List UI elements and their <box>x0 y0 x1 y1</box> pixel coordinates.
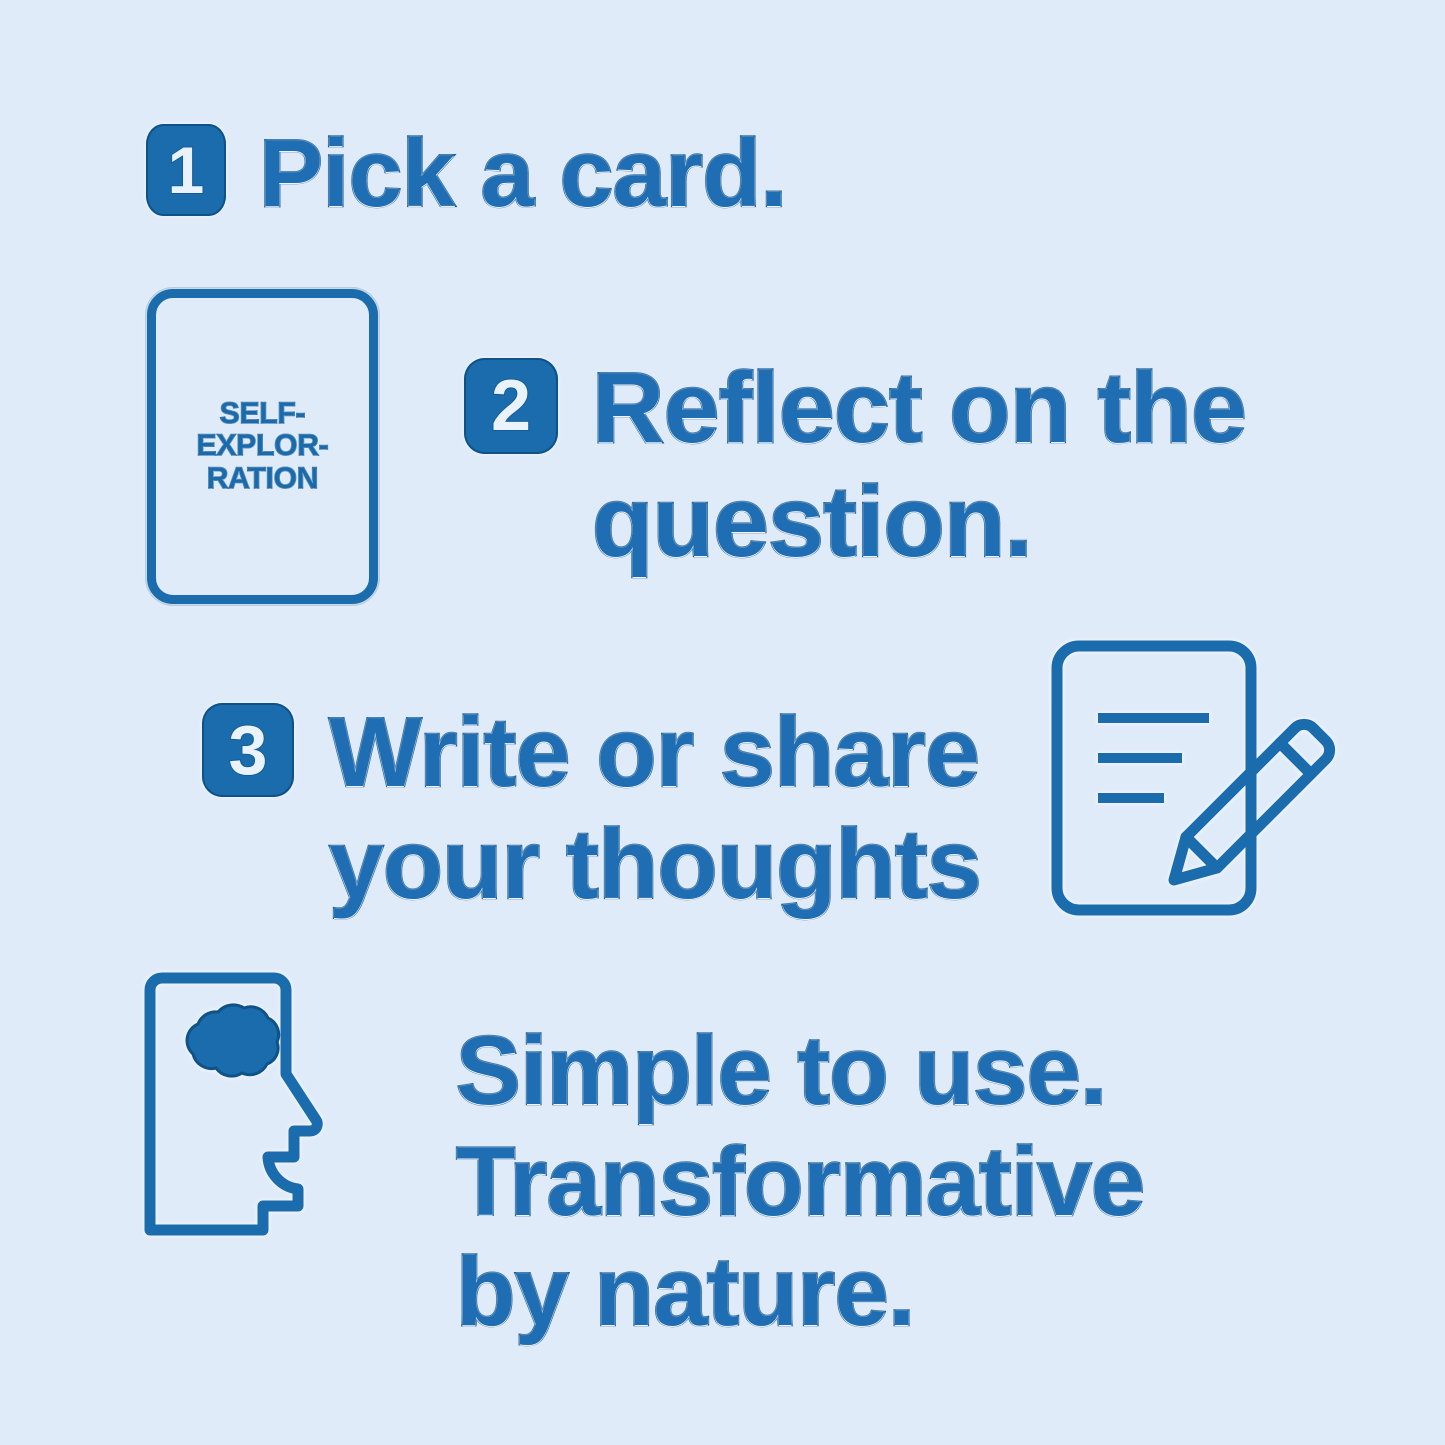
step-1-badge: 1 <box>146 124 226 216</box>
step-3-badge: 3 <box>202 703 294 797</box>
document-with-pencil-icon <box>1043 632 1343 924</box>
pencil-ferrule <box>1280 724 1330 774</box>
pencil-tip <box>1174 837 1217 880</box>
brain-shape <box>187 1005 279 1076</box>
step-2-label: Reflect on the question. <box>592 351 1246 579</box>
self-exploration-card-graphic: SELF- EXPLOR- RATION <box>147 289 378 604</box>
step-3-label: Write or share your thoughts <box>329 697 981 920</box>
head-profile-with-brain-icon <box>140 968 365 1240</box>
card-label: SELF- EXPLOR- RATION <box>197 398 329 494</box>
instruction-poster: 1 Pick a card. SELF- EXPLOR- RATION 2 Re… <box>0 0 1445 1445</box>
step-1-label: Pick a card. <box>259 119 787 228</box>
closing-statement: Simple to use. Transformative by nature. <box>456 1016 1144 1348</box>
step-2-badge: 2 <box>464 358 558 454</box>
